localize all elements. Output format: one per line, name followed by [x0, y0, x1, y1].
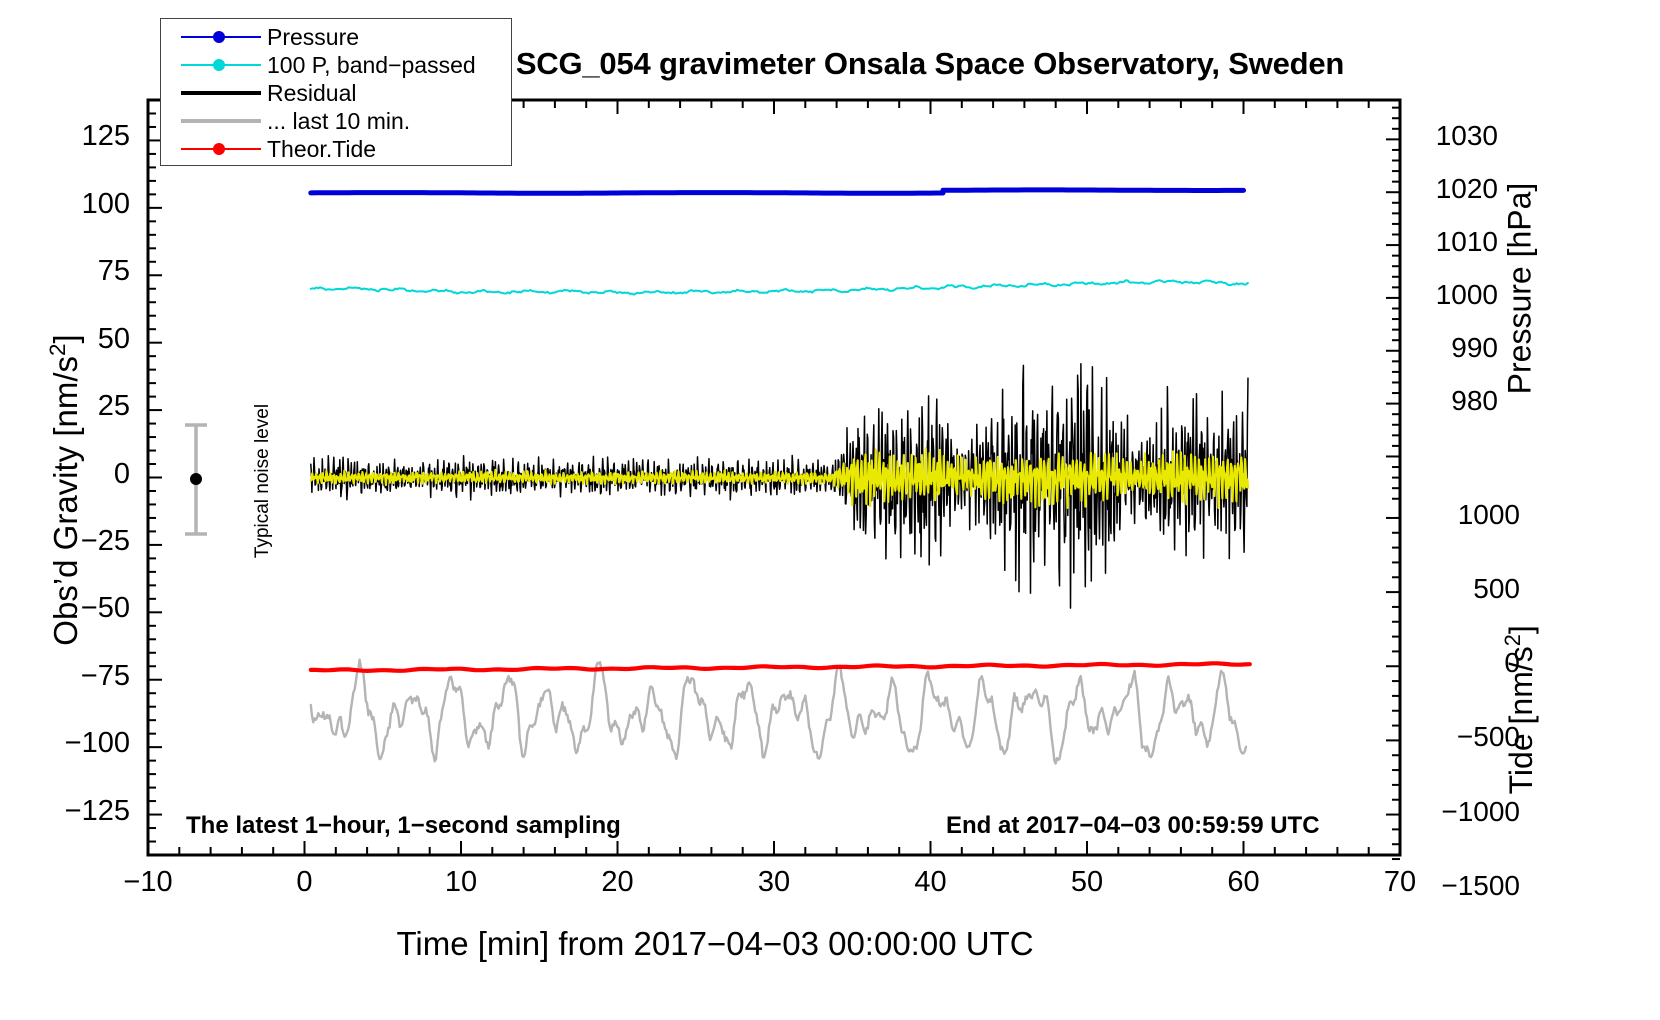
annotation-bottom-left: The latest 1−hour, 1−second sampling	[186, 812, 621, 840]
y-tick-left: −125	[15, 795, 130, 828]
legend-swatch-icon	[175, 27, 267, 47]
y-tick-right-pressure: 1010	[1410, 226, 1498, 258]
legend-item-label: Theor.Tide	[267, 136, 376, 163]
typical-noise-level-marker	[185, 425, 207, 534]
y-tick-right-tide: −1000	[1410, 796, 1520, 828]
y-tick-right-tide: 1000	[1410, 499, 1520, 531]
series-path	[311, 280, 1248, 294]
series-path	[311, 663, 1250, 671]
legend-item-0[interactable]: Pressure	[161, 23, 511, 51]
x-tick: 0	[260, 866, 350, 899]
legend-item-label: ... last 10 min.	[267, 108, 410, 135]
y-tick-left: 100	[15, 188, 130, 221]
y-axis-right-tide-title-sup: 2	[1500, 634, 1525, 646]
y-tick-left: −100	[15, 727, 130, 760]
legend-swatch-icon	[175, 111, 267, 131]
y-tick-right-tide: −500	[1410, 721, 1520, 753]
legend-item-2[interactable]: Residual	[161, 79, 511, 107]
y-tick-left: 50	[15, 323, 130, 356]
x-tick: 30	[729, 866, 819, 899]
typical-noise-level-label: Typical noise level	[252, 366, 274, 596]
y-tick-left: −25	[15, 525, 130, 558]
x-tick: 20	[573, 866, 663, 899]
legend-swatch-icon	[175, 83, 267, 103]
data-series-group	[311, 190, 1250, 764]
y-axis-right-pressure-title: Pressure [hPa]	[1502, 74, 1539, 504]
y-tick-left: 0	[15, 458, 130, 491]
y-tick-right-pressure: 990	[1410, 332, 1498, 364]
x-axis-title: Time [min] from 2017−04−03 00:00:00 UTC	[0, 925, 1430, 963]
legend-box[interactable]: Pressure100 P, band−passedResidual... la…	[160, 18, 512, 166]
y-tick-left: 25	[15, 390, 130, 423]
x-tick: 40	[886, 866, 976, 899]
y-tick-right-tide: 0	[1410, 647, 1520, 679]
legend-item-4[interactable]: Theor.Tide	[161, 135, 511, 163]
legend-swatch-icon	[175, 139, 267, 159]
x-tick: −10	[103, 866, 193, 899]
x-tick: 60	[1199, 866, 1289, 899]
y-tick-left: −50	[15, 592, 130, 625]
series-path	[311, 193, 943, 194]
y-tick-left: 125	[15, 120, 130, 153]
annotation-bottom-right: End at 2017−04−03 00:59:59 UTC	[946, 812, 1320, 840]
legend-item-1[interactable]: 100 P, band−passed	[161, 51, 511, 79]
y-tick-right-pressure: 980	[1410, 385, 1498, 417]
y-tick-right-pressure: 1030	[1410, 120, 1498, 152]
x-tick: 50	[1042, 866, 1132, 899]
legend-item-label: Residual	[267, 80, 357, 107]
x-tick: 10	[416, 866, 506, 899]
y-tick-right-pressure: 1020	[1410, 173, 1498, 205]
series-path	[943, 190, 1244, 191]
legend-item-3[interactable]: ... last 10 min.	[161, 107, 511, 135]
y-tick-right-pressure: 1000	[1410, 279, 1498, 311]
legend-item-label: Pressure	[267, 24, 359, 51]
legend-swatch-icon	[175, 55, 267, 75]
x-tick: 70	[1355, 866, 1445, 899]
y-tick-left: 75	[15, 255, 130, 288]
y-tick-left: −75	[15, 660, 130, 693]
y-tick-right-tide: 500	[1410, 573, 1520, 605]
chart-root: SCG_054 gravimeter Onsala Space Observat…	[0, 0, 1660, 1020]
y-axis-right-tide-title-tail: ]	[1503, 625, 1539, 634]
legend-item-label: 100 P, band−passed	[267, 52, 476, 79]
chart-title: SCG_054 gravimeter Onsala Space Observat…	[430, 46, 1430, 82]
series-path	[311, 660, 1246, 764]
